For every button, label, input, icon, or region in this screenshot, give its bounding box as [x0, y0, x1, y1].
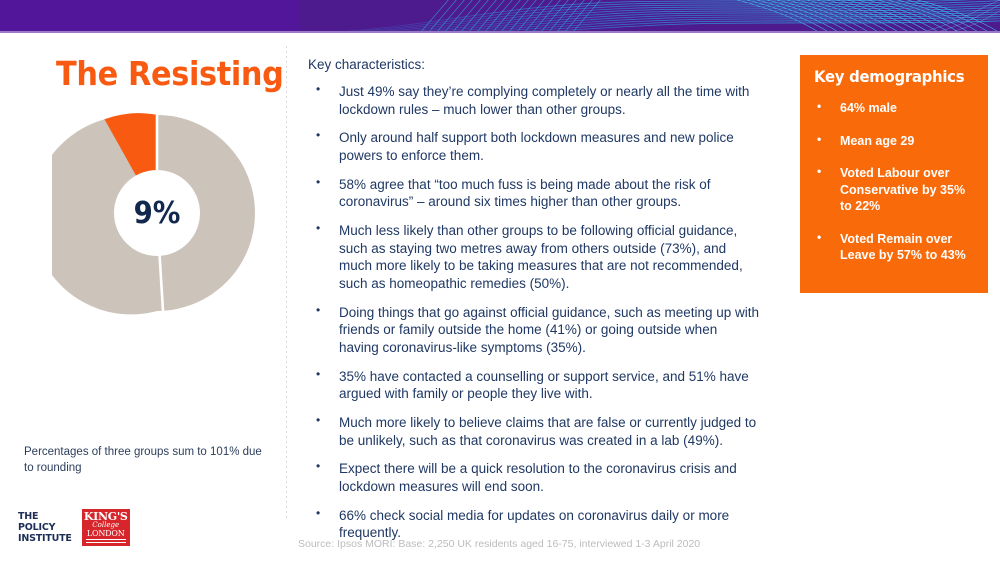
slide-root: The Resisting 9% Percentages of three gr… — [0, 0, 1000, 563]
page-title: The Resisting — [56, 54, 268, 93]
policy-logo-line-2: POLICY — [18, 522, 72, 533]
policy-institute-logo: THE POLICY INSTITUTE — [18, 511, 72, 544]
list-item: Mean age 29 — [814, 133, 976, 150]
list-item: Voted Labour over Conservative by 35% to… — [814, 165, 976, 215]
kings-logo-line-3: LONDON — [82, 529, 130, 538]
banner-underline — [0, 31, 1000, 33]
list-item: Expect there will be a quick resolution … — [308, 460, 760, 495]
banner-solid-block — [0, 0, 320, 33]
kings-logo-rules — [86, 539, 126, 543]
top-banner — [0, 0, 1000, 33]
list-item: Voted Remain over Leave by 57% to 43% — [814, 231, 976, 264]
list-item: 58% agree that “too much fuss is being m… — [308, 176, 760, 211]
list-item: Just 49% say they’re complying completel… — [308, 83, 760, 118]
kings-college-london-logo: KING'S College LONDON — [82, 509, 130, 546]
list-item: Much less likely than other groups to be… — [308, 222, 760, 293]
key-demographics-panel: Key demographics 64% male Mean age 29 Vo… — [800, 55, 988, 293]
list-item: Doing things that go against official gu… — [308, 304, 760, 357]
section-heading: Key characteristics: — [308, 57, 760, 72]
list-item: 66% check social media for updates on co… — [308, 507, 760, 542]
donut-hole — [114, 170, 200, 256]
key-characteristics-section: Key characteristics: Just 49% say they’r… — [308, 57, 760, 553]
rounding-note: Percentages of three groups sum to 101% … — [24, 444, 264, 477]
policy-logo-line-1: THE — [18, 511, 72, 522]
donut-chart: 9% — [52, 108, 262, 318]
donut-chart-svg — [52, 108, 262, 318]
logo-group: THE POLICY INSTITUTE KING'S College LOND… — [18, 509, 130, 546]
key-characteristics-list: Just 49% say they’re complying completel… — [308, 83, 760, 542]
list-item: 64% male — [814, 100, 976, 117]
key-demographics-title: Key demographics — [814, 67, 965, 86]
list-item: Much more likely to believe claims that … — [308, 414, 760, 449]
key-demographics-list: 64% male Mean age 29 Voted Labour over C… — [814, 100, 976, 264]
source-note: Source: Ipsos MORI: Base: 2,250 UK resid… — [298, 538, 700, 550]
list-item: 35% have contacted a counselling or supp… — [308, 368, 760, 403]
list-item: Only around half support both lockdown m… — [308, 129, 760, 164]
column-divider — [286, 46, 287, 518]
policy-logo-line-3: INSTITUTE — [18, 533, 72, 544]
banner-wave-pattern-icon — [300, 0, 1000, 33]
